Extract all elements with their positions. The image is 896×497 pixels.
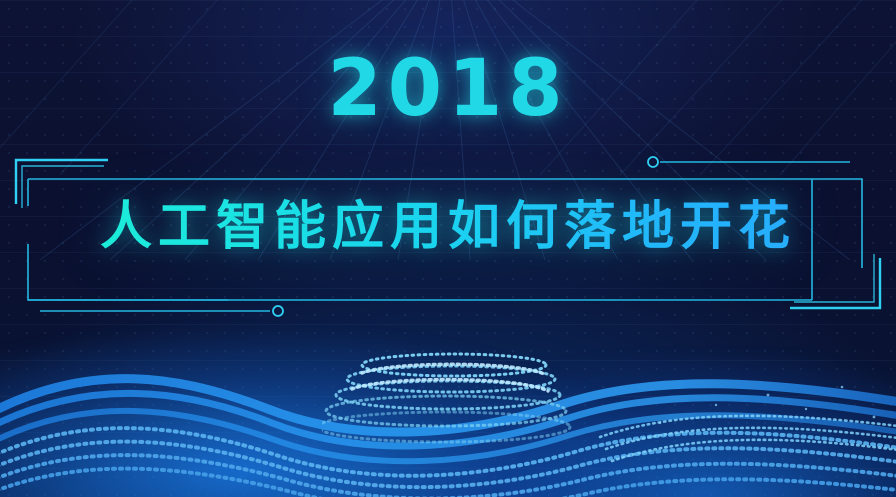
year-title: 2018: [0, 50, 896, 128]
page-title: 人工智能应用如何落地开花: [0, 196, 896, 258]
circle-node-icon: [273, 306, 283, 316]
dotted-spiral-rings-icon: [322, 349, 580, 449]
circle-node-icon: [648, 157, 658, 167]
poster-canvas: 2018: [0, 0, 896, 497]
